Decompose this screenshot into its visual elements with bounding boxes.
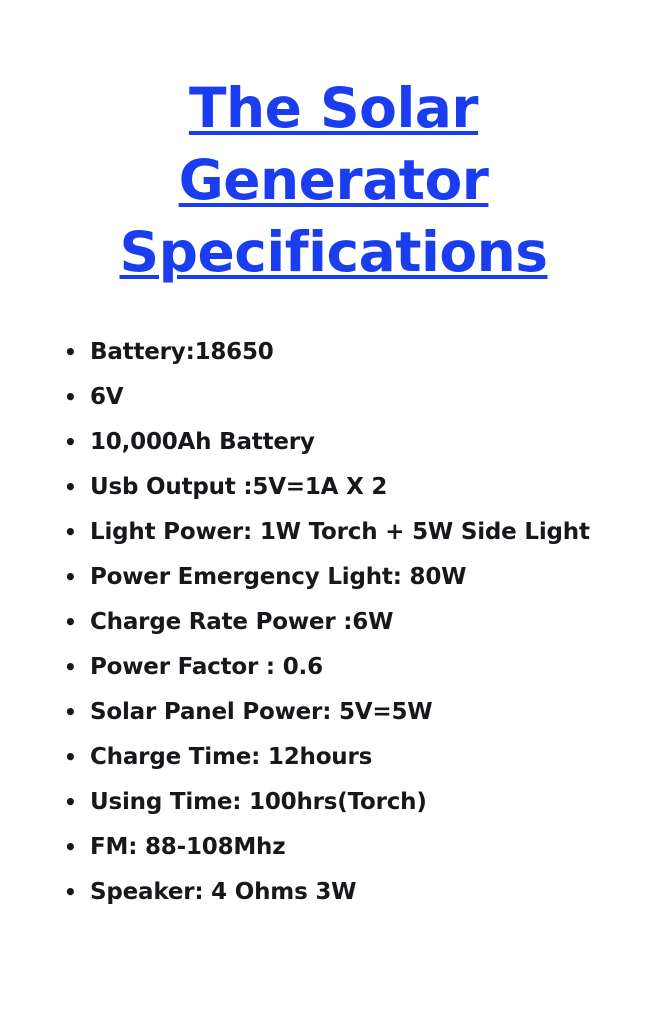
list-item-label: Using Time: 100hrs(Torch) (90, 789, 427, 815)
list-item-label: Speaker: 4 Ohms 3W (90, 879, 356, 905)
list-item: • Power Emergency Light: 80W (62, 555, 667, 600)
list-item: • Charge Rate Power :6W (62, 600, 667, 645)
specifications-page: The Solar Generator Specifications • Bat… (0, 0, 667, 1024)
bullet-icon: • (64, 600, 74, 645)
bullet-icon: • (64, 330, 74, 375)
page-title: The Solar Generator Specifications (0, 0, 667, 288)
specification-list: • Battery:18650 • 6V • 10,000Ah Battery … (0, 288, 667, 915)
list-item: • 10,000Ah Battery (62, 420, 667, 465)
list-item: • FM: 88-108Mhz (62, 825, 667, 870)
list-item: • Usb Output :5V=1A X 2 (62, 465, 667, 510)
list-item: • Power Factor : 0.6 (62, 645, 667, 690)
bullet-icon: • (64, 645, 74, 690)
list-item-label: Light Power: 1W Torch + 5W Side Light (90, 519, 590, 545)
bullet-icon: • (64, 465, 74, 510)
bullet-icon: • (64, 555, 74, 600)
list-item: • Speaker: 4 Ohms 3W (62, 870, 667, 915)
list-item-label: Battery:18650 (90, 339, 274, 365)
list-item: • 6V (62, 375, 667, 420)
bullet-icon: • (64, 375, 74, 420)
list-item-label: 6V (90, 384, 123, 410)
bullet-icon: • (64, 780, 74, 825)
bullet-icon: • (64, 510, 74, 555)
list-item-label: Charge Rate Power :6W (90, 609, 393, 635)
list-item-label: FM: 88-108Mhz (90, 834, 285, 860)
bullet-icon: • (64, 825, 74, 870)
bullet-icon: • (64, 690, 74, 735)
list-item-label: Usb Output :5V=1A X 2 (90, 474, 387, 500)
list-item: • Light Power: 1W Torch + 5W Side Light (62, 510, 667, 555)
list-item-label: Charge Time: 12hours (90, 744, 372, 770)
list-item: • Solar Panel Power: 5V=5W (62, 690, 667, 735)
list-item-label: Power Emergency Light: 80W (90, 564, 466, 590)
list-item-label: Power Factor : 0.6 (90, 654, 323, 680)
bullet-icon: • (64, 420, 74, 465)
list-item-label: Solar Panel Power: 5V=5W (90, 699, 432, 725)
list-item-label: 10,000Ah Battery (90, 429, 315, 455)
list-item: • Battery:18650 (62, 330, 667, 375)
bullet-icon: • (64, 870, 74, 915)
bullet-icon: • (64, 735, 74, 780)
list-item: • Using Time: 100hrs(Torch) (62, 780, 667, 825)
list-item: • Charge Time: 12hours (62, 735, 667, 780)
